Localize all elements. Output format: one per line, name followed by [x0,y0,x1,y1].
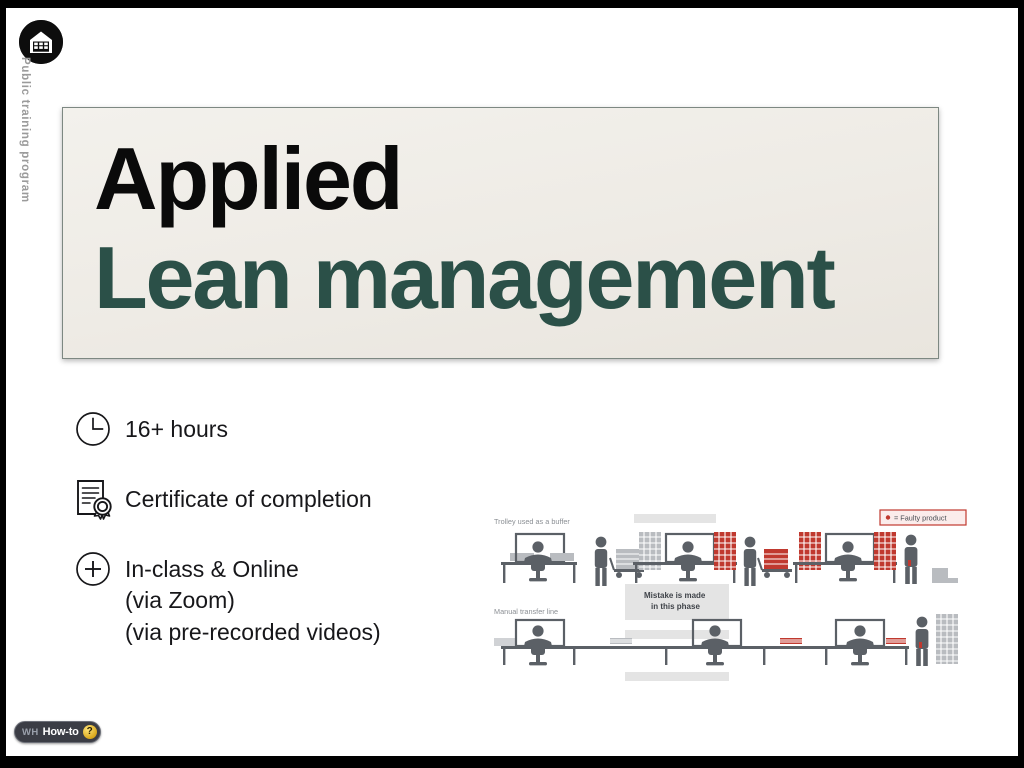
side-label: Public training program [19,57,31,207]
svg-text:Manual transfer line: Manual transfer line [494,607,558,616]
feature-item-delivery: In-class & Online (via Zoom) (via pre-re… [70,546,500,648]
title-plate: Applied Lean management [62,107,939,359]
page-title-line1: Applied [94,130,938,229]
certificate-icon [70,476,116,522]
slide-root: Public training program Applied Lean man… [0,0,1024,768]
page-title-line2: Lean management [94,229,938,328]
feature-sublabel-recorded: (via pre-recorded videos) [125,617,381,648]
svg-text:in this phase: in this phase [651,602,700,611]
how-to-prefix: WH [22,727,39,738]
question-mark-icon[interactable]: ? [83,725,97,739]
how-to-badge[interactable]: WH How-to ? [14,721,101,743]
feature-label-hours: 16+ hours [125,406,228,445]
slide-canvas: Public training program Applied Lean man… [6,8,1018,756]
clock-icon [70,406,116,452]
feature-label-delivery: In-class & Online [125,546,381,585]
feature-sublabel-zoom: (via Zoom) [125,585,381,616]
how-to-label: How-to [43,726,79,738]
feature-item-certificate: Certificate of completion [70,476,500,522]
feature-list: 16+ hours [70,406,500,672]
svg-text:Mistake is made: Mistake is made [644,591,706,600]
production-line-illustration: Trolley used as a buffer Manual transfer… [488,506,970,692]
feature-label-certificate: Certificate of completion [125,476,372,515]
svg-text:= Faulty product: = Faulty product [894,513,947,522]
svg-text:Trolley used as a buffer: Trolley used as a buffer [494,517,570,526]
plus-circle-icon [70,546,116,592]
feature-item-hours: 16+ hours [70,406,500,452]
